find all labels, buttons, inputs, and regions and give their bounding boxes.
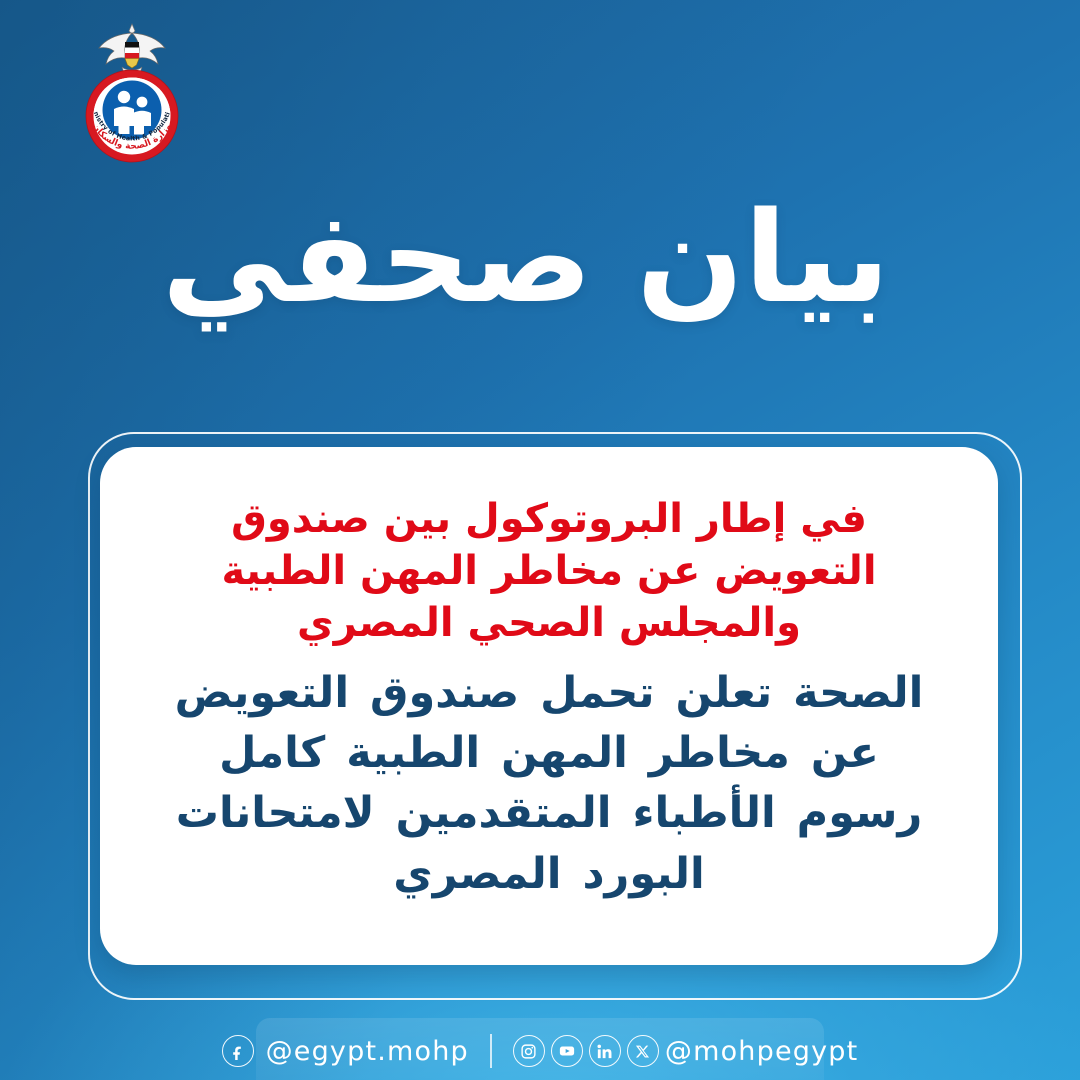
statement-body: الصحة تعلن تحمل صندوق التعويض عن مخاطر ا… (144, 663, 954, 904)
statement-highlight: في إطار البروتوكول بين صندوق التعويض عن … (144, 493, 954, 649)
instagram-icon[interactable] (513, 1035, 545, 1067)
x-twitter-icon[interactable] (627, 1035, 659, 1067)
facebook-group[interactable]: @egypt.mohp (222, 1035, 469, 1067)
footer-separator (490, 1034, 492, 1068)
facebook-handle[interactable]: @egypt.mohp (266, 1036, 469, 1067)
facebook-icon[interactable] (222, 1035, 254, 1067)
shared-handle[interactable]: @mohpegypt (665, 1036, 859, 1067)
eagle-of-saladin-icon: جمهورية مصر العربية (99, 24, 165, 75)
linkedin-icon[interactable] (589, 1035, 621, 1067)
social-icon-group: @mohpegypt (513, 1035, 859, 1067)
statement-card: في إطار البروتوكول بين صندوق التعويض عن … (100, 447, 998, 965)
press-statement-poster: جمهورية مصر العربية (0, 0, 1080, 1080)
youtube-icon[interactable] (551, 1035, 583, 1067)
social-footer: @egypt.mohp (0, 1034, 1080, 1068)
ministry-logo: جمهورية مصر العربية (72, 18, 192, 168)
page-title: بيان صحفي (170, 196, 890, 319)
